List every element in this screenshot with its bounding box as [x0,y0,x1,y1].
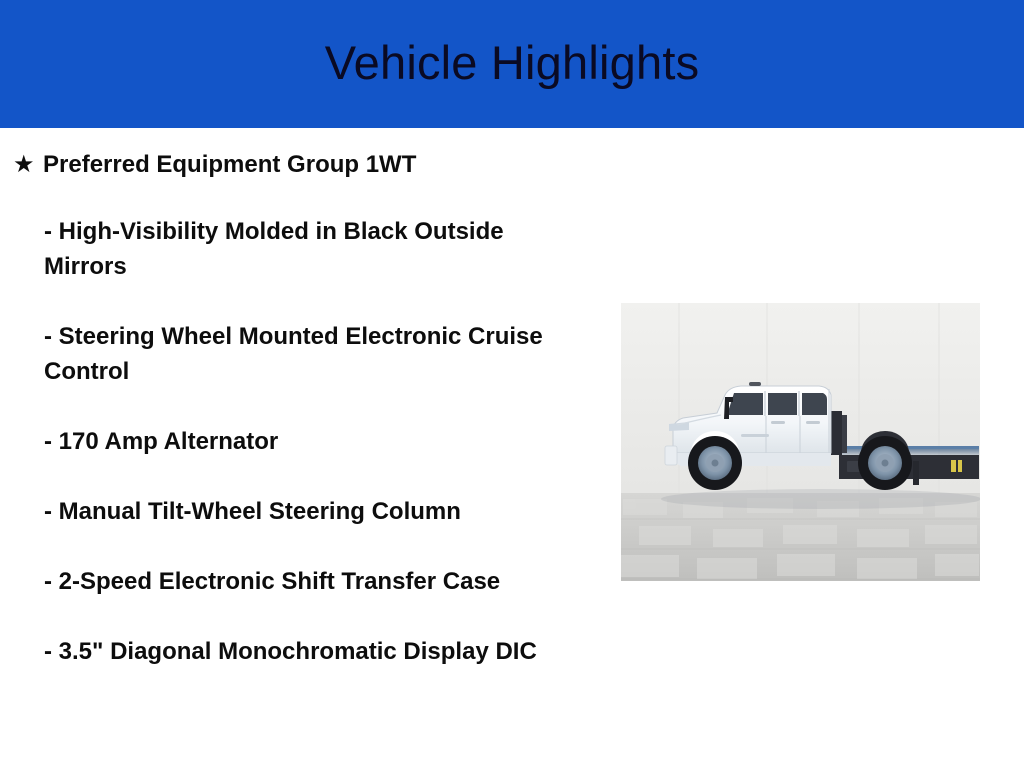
equipment-group-heading: ★ Preferred Equipment Group 1WT [0,150,610,180]
rear-wheel [858,436,912,490]
vehicle-photo [621,303,980,581]
vehicle-photo-image [621,303,980,581]
list-item: - 3.5" Diagonal Monochromatic Display DI… [44,634,589,669]
highlights-column: ★ Preferred Equipment Group 1WT - High-V… [0,128,610,669]
list-item: - Manual Tilt-Wheel Steering Column [44,494,589,529]
feature-list: - High-Visibility Molded in Black Outsid… [0,214,610,669]
slide: Vehicle Highlights ★ Preferred Equipment… [0,0,1024,768]
list-item: - 2-Speed Electronic Shift Transfer Case [44,564,589,599]
page-title: Vehicle Highlights [325,39,700,90]
header-banner: Vehicle Highlights [0,0,1024,128]
list-item: - High-Visibility Molded in Black Outsid… [44,214,589,284]
star-icon: ★ [13,150,43,180]
list-item: - 170 Amp Alternator [44,424,589,459]
content-area: ★ Preferred Equipment Group 1WT - High-V… [0,128,1024,768]
front-wheel [688,436,742,490]
list-item: - Steering Wheel Mounted Electronic Crui… [44,319,589,389]
equipment-group-label: Preferred Equipment Group 1WT [43,150,610,180]
